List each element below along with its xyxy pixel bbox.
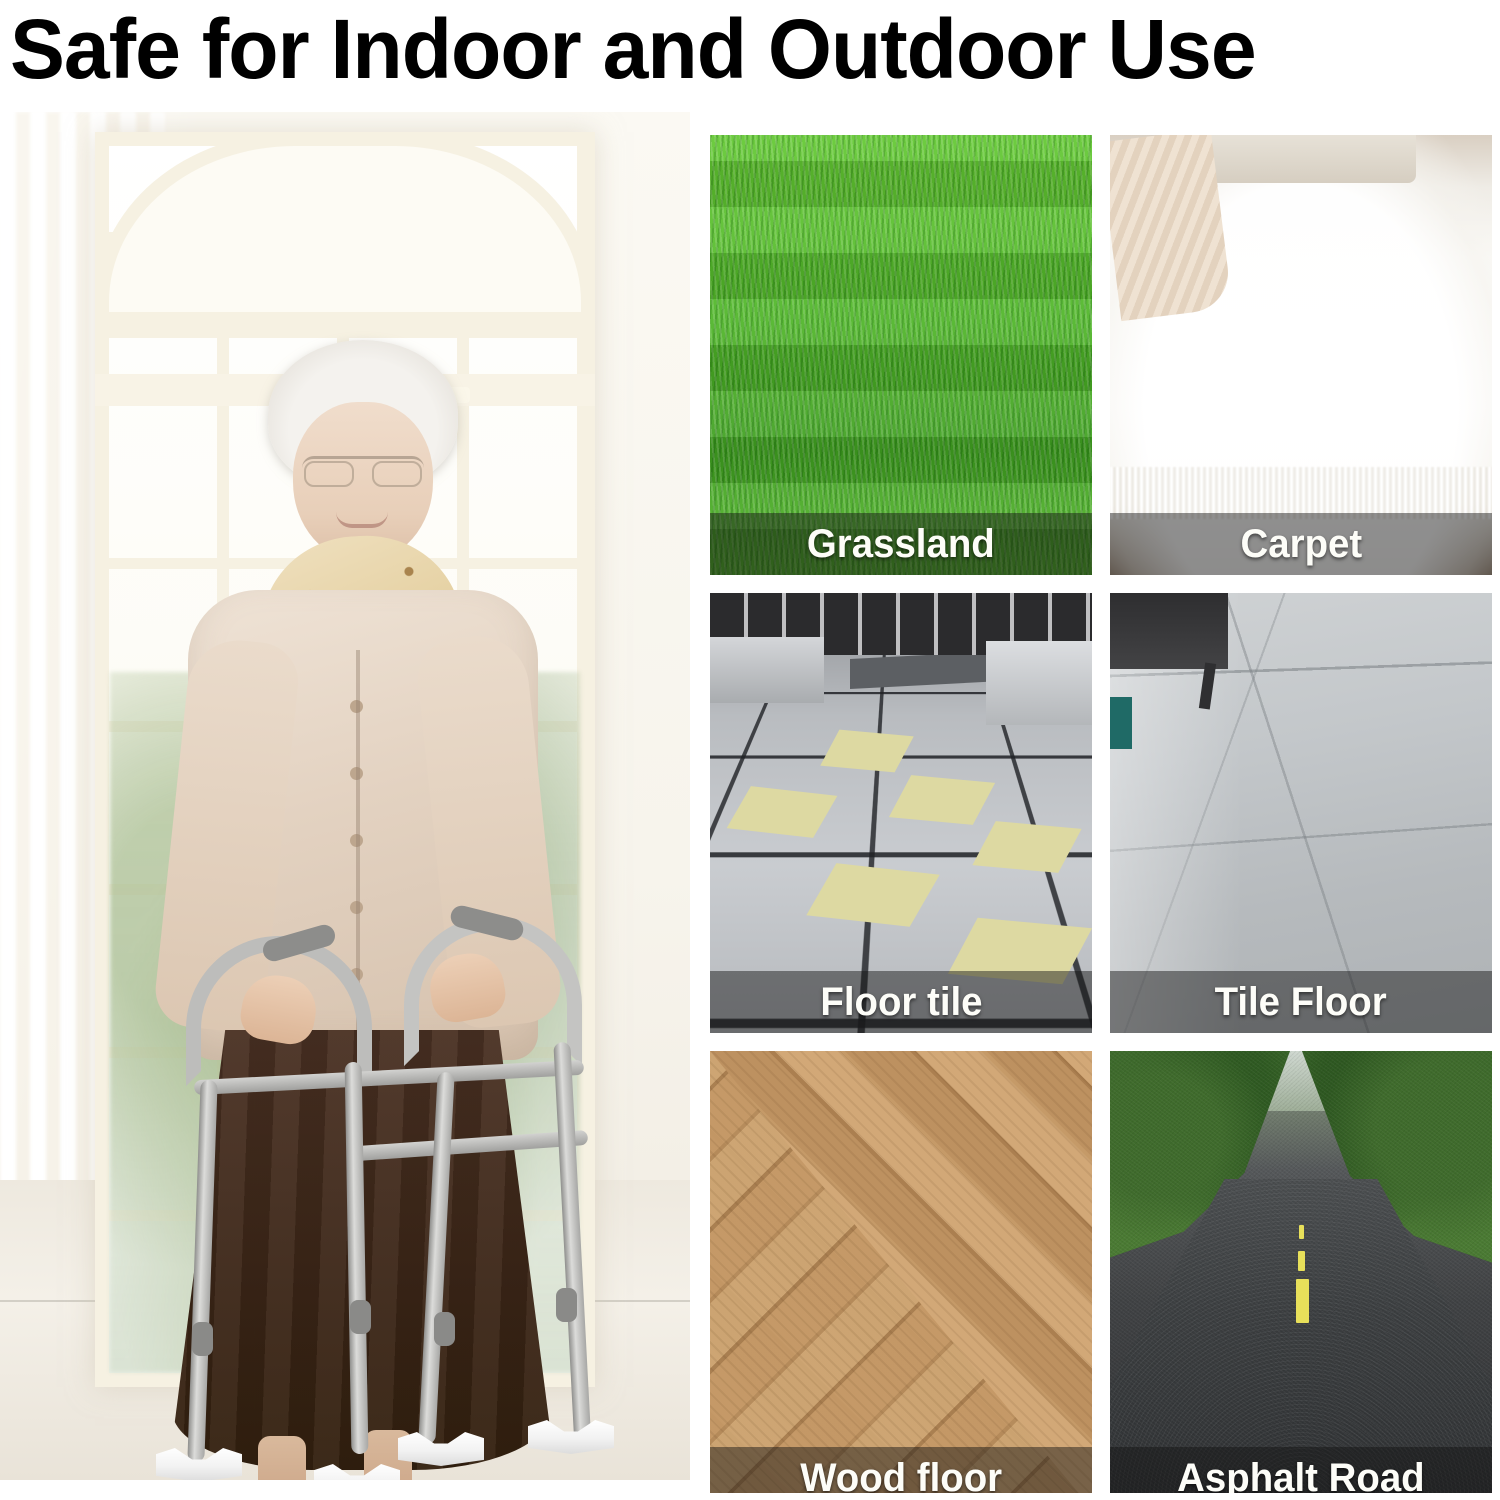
wood-floor-photo [710,1051,1092,1500]
tile-floor-label-band: Tile Floor [1110,971,1492,1033]
walker-height-sleeve-1 [192,1322,213,1356]
carpet-photo [1110,135,1492,575]
floor-tile-photo [710,593,1092,1033]
asphalt-road-photo [1110,1051,1492,1500]
product-infographic-page: Safe for Indoor and Outdoor Use [0,0,1500,1500]
walker-glide-cap-rear-left [398,1432,484,1466]
walker-leg-front-right [345,1062,369,1454]
grassland-label-band: Grassland [710,513,1092,575]
walker-leg-front-left [187,1080,217,1462]
floor-tile-label: Floor tile [820,980,982,1024]
walker-leg-rear-left [418,1072,454,1444]
walker-glide-cap-front-right [314,1464,400,1480]
surface-tile-carpet: Carpet [1110,135,1492,575]
wood-grain-texture [710,1051,1092,1500]
center-line-dash-far [1299,1225,1304,1239]
walker-glide-cap-rear-right [528,1420,614,1454]
concrete-planter [710,637,824,703]
surface-tile-grassland: Grassland [710,135,1092,575]
carpet-label: Carpet [1240,522,1362,566]
walker-height-sleeve-4 [556,1288,577,1322]
smile [336,512,388,528]
walker-height-sleeve-3 [434,1312,455,1346]
folding-walker [150,892,630,1480]
walker-leg-rear-right [553,1042,591,1450]
walker-height-sleeve-2 [350,1300,371,1334]
tile-floor-label: Tile Floor [1215,980,1387,1024]
walker-rear-arch [404,916,582,1066]
grassland-label: Grassland [807,522,995,566]
teal-object [1110,697,1132,749]
carpet-sofa-edge [1206,135,1416,183]
surface-tile-tile-floor: Tile Floor [1110,593,1492,1033]
center-line-dash-mid [1298,1251,1305,1271]
dark-furniture [1110,593,1228,669]
bottom-white-strip [0,1493,1500,1500]
surface-tile-floor-tile: Floor tile [710,593,1092,1033]
concrete-block [986,641,1092,725]
floor-tile-label-band: Floor tile [710,971,1092,1033]
tile-floor-photo [1110,593,1492,1033]
grassland-photo [710,135,1092,575]
asphalt-grain-texture [1110,1051,1492,1500]
surface-tile-wood-floor: Wood floor [710,1051,1092,1500]
carpet-throw-blanket [1110,135,1233,321]
carpet-shag-fringe [1110,467,1492,519]
glasses-icon [302,456,424,482]
center-line-dash-near [1296,1279,1309,1323]
carpet-label-band: Carpet [1110,513,1492,575]
hero-photo-walker-in-use [0,112,690,1480]
walker-cross-bar-lower [356,1130,588,1161]
page-title: Safe for Indoor and Outdoor Use [10,2,1460,97]
transom-rail [95,312,595,338]
surface-tile-asphalt-road: Asphalt Road [1110,1051,1492,1500]
surface-grid: Grassland Carpet [710,135,1492,1493]
